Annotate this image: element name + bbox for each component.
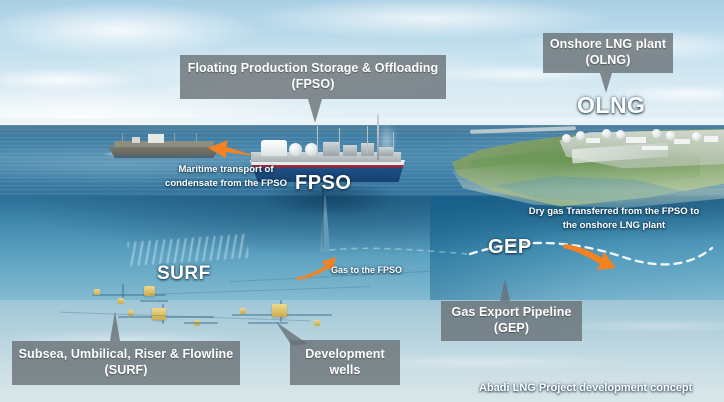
gep-callout-pointer: [500, 279, 510, 301]
drygas-line1: Dry gas: [529, 206, 564, 217]
drygas-line2: Transferred from the FPSO: [566, 206, 687, 217]
gas-to-fpso-annotation: Gas to the FPSO: [331, 265, 402, 275]
maritime-line1: Maritime transport of: [178, 164, 273, 175]
surf-callout-pointer: [110, 311, 120, 341]
olng-map-label: OLNG: [577, 92, 645, 119]
fpso-callout-line2: (FPSO): [188, 77, 439, 93]
fpso-callout-line1: Floating Production Storage & Offloading: [188, 61, 439, 77]
wells-callout-line2: wells: [305, 363, 385, 379]
olng-callout-box[interactable]: Onshore LNG plant (OLNG): [543, 33, 673, 73]
surf-map-label: SURF: [157, 263, 211, 285]
surf-callout-box[interactable]: Subsea, Umbilical, Riser & Flowline (SUR…: [12, 341, 240, 385]
wells-callout-pointer: [276, 322, 316, 348]
fpso-callout-box[interactable]: Floating Production Storage & Offloading…: [180, 55, 446, 99]
abadi-lng-concept-diagram: Floating Production Storage & Offloading…: [0, 0, 724, 402]
maritime-transport-annotation: Maritime transport of condensate from th…: [158, 163, 294, 191]
fpso-callout-pointer: [308, 99, 322, 123]
dry-gas-annotation: Dry gas Transferred from the FPSO to the…: [524, 205, 704, 233]
gep-callout-line2: (GEP): [452, 321, 572, 337]
surf-callout-line2: (SURF): [19, 363, 234, 379]
lng-storage-tanks: [556, 126, 724, 156]
gep-callout-box[interactable]: Gas Export Pipeline (GEP): [441, 301, 582, 341]
dry-gas-transfer-arrow: [562, 240, 620, 272]
olng-callout-line1: Onshore LNG plant: [550, 37, 666, 53]
wells-callout-line1: Development: [305, 347, 385, 363]
gep-callout-line1: Gas Export Pipeline: [452, 305, 572, 321]
gep-map-label: GEP: [488, 236, 532, 259]
olng-callout-pointer: [600, 73, 612, 93]
fpso-map-label: FPSO: [295, 172, 351, 195]
maritime-transport-arrow: [200, 136, 256, 162]
olng-callout-line2: (OLNG): [550, 53, 666, 69]
diagram-caption: Abadi LNG Project development concept: [479, 382, 692, 394]
maritime-line2: condensate from the FPSO: [165, 178, 287, 189]
surf-callout-line1: Subsea, Umbilical, Riser & Flowline: [19, 347, 234, 363]
